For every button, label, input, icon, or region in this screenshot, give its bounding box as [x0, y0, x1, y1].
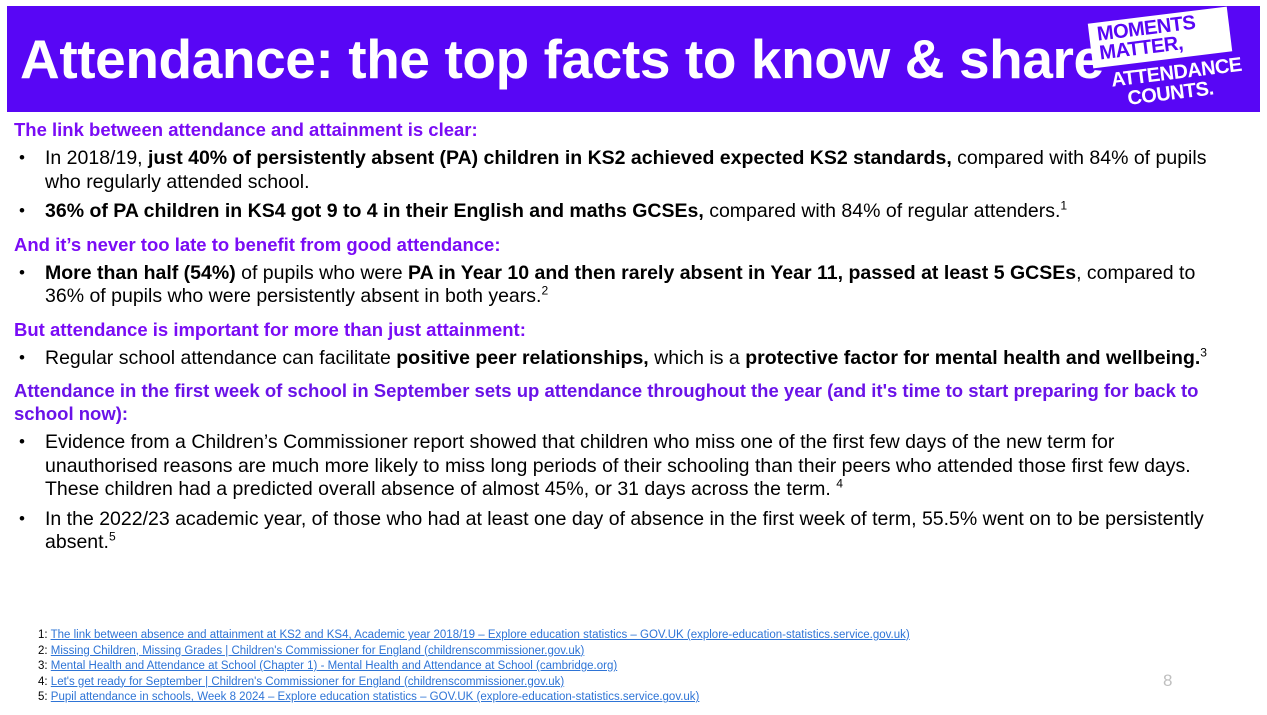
footnote-list: 1: The link between absence and attainme…: [38, 628, 1138, 706]
bullet-item: In the 2022/23 academic year, of those w…: [0, 508, 1267, 555]
footnote-link[interactable]: The link between absence and attainment …: [51, 629, 910, 641]
page-title: Attendance: the top facts to know & shar…: [20, 24, 1104, 94]
section-heading: And it’s never too late to benefit from …: [14, 233, 1229, 256]
bullet-emphasis: positive peer relationships,: [396, 347, 649, 369]
bullet-emphasis: PA in Year 10 and then rarely absent in …: [408, 262, 1076, 284]
bullet-item: More than half (54%) of pupils who were …: [0, 262, 1267, 309]
bullet-text: Evidence from a Children’s Commissioner …: [45, 431, 1191, 500]
bullet-emphasis: just 40% of persistently absent (PA) chi…: [148, 147, 952, 169]
footnote-row: 4: Let's get ready for September | Child…: [38, 675, 1138, 691]
footnote-link[interactable]: Mental Health and Attendance at School (…: [51, 660, 617, 672]
footnote-marker: 4: [836, 477, 843, 491]
footnote-marker: 2: [541, 284, 548, 298]
bullet-list: Regular school attendance can facilitate…: [0, 347, 1267, 371]
footnote-marker: 5: [109, 530, 116, 544]
bullet-text: of pupils who were: [236, 262, 408, 284]
bullet-emphasis: 36% of PA children in KS4 got 9 to 4 in …: [45, 200, 704, 222]
bullet-text: compared with 84% of regular attenders.: [704, 200, 1061, 222]
bullet-item: In 2018/19, just 40% of persistently abs…: [0, 147, 1267, 194]
section-heading: Attendance in the first week of school i…: [14, 379, 1229, 425]
footnote-link[interactable]: Missing Children, Missing Grades | Child…: [51, 645, 585, 657]
footnote-marker: 1: [1060, 199, 1067, 213]
footnote-number: 3:: [38, 660, 51, 672]
bullet-emphasis: protective factor for mental health and …: [745, 347, 1200, 369]
bullet-text: which is a: [649, 347, 745, 369]
footnote-link[interactable]: Let's get ready for September | Children…: [51, 676, 564, 688]
page-number: 8: [1163, 671, 1172, 691]
section-heading: But attendance is important for more tha…: [14, 318, 1229, 341]
footnote-link[interactable]: Pupil attendance in schools, Week 8 2024…: [51, 691, 700, 703]
bullet-text: Regular school attendance can facilitate: [45, 347, 396, 369]
slide-body: The link between attendance and attainme…: [0, 118, 1267, 564]
footnote-number: 5:: [38, 691, 51, 703]
header-banner: Attendance: the top facts to know & shar…: [7, 6, 1260, 112]
footnote-number: 4:: [38, 676, 51, 688]
footnote-row: 2: Missing Children, Missing Grades | Ch…: [38, 644, 1138, 660]
bullet-list: More than half (54%) of pupils who were …: [0, 262, 1267, 309]
footnote-row: 5: Pupil attendance in schools, Week 8 2…: [38, 690, 1138, 706]
footnote-number: 1:: [38, 629, 51, 641]
bullet-item: Evidence from a Children’s Commissioner …: [0, 431, 1267, 502]
section-heading: The link between attendance and attainme…: [14, 118, 1229, 141]
bullet-item: 36% of PA children in KS4 got 9 to 4 in …: [0, 200, 1267, 224]
footnote-number: 2:: [38, 645, 51, 657]
bullet-text: In 2018/19,: [45, 147, 148, 169]
footnote-row: 3: Mental Health and Attendance at Schoo…: [38, 659, 1138, 675]
bullet-text: In the 2022/23 academic year, of those w…: [45, 508, 1204, 554]
footnote-row: 1: The link between absence and attainme…: [38, 628, 1138, 644]
bullet-list: In 2018/19, just 40% of persistently abs…: [0, 147, 1267, 224]
moments-matter-logo: MOMENTS MATTER, ATTENDANCE COUNTS.: [1078, 10, 1258, 110]
footnote-marker: 3: [1200, 345, 1207, 359]
bullet-emphasis: More than half (54%): [45, 262, 236, 284]
bullet-item: Regular school attendance can facilitate…: [0, 347, 1267, 371]
bullet-list: Evidence from a Children’s Commissioner …: [0, 431, 1267, 555]
